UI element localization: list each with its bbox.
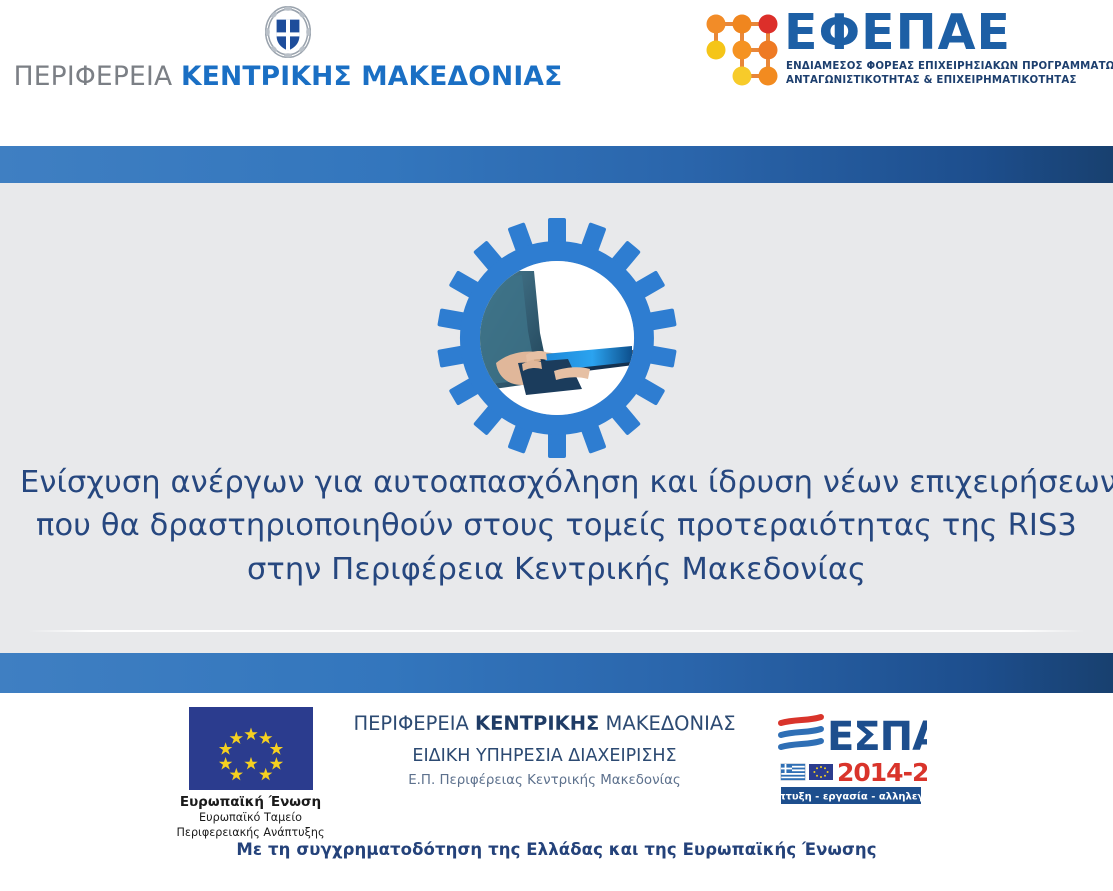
headline-line-1: Ενίσχυση ανέργων για αυτοαπασχόληση και … xyxy=(20,461,1093,504)
region-title-plain: ΠΕΡΙΦΕΡΕΙΑ xyxy=(14,61,173,92)
authority-line-1: ΠΕΡΙΦΕΡΕΙΑ ΚΕΝΤΡΙΚΗΣ ΜΑΚΕΔΟΝΙΑΣ xyxy=(345,711,745,737)
efepae-wordmark: ΕΦΕΠΑΕ xyxy=(784,8,1011,57)
region-title-bold: ΚΕΝΤΡΙΚΗΣ ΜΑΚΕΔΟΝΙΑΣ xyxy=(181,61,562,92)
eu-funding-block: Ευρωπαϊκή Ένωση Ευρωπαϊκό Ταμείο Περιφερ… xyxy=(187,701,315,840)
banner-page: ΠΕΡΙΦΕΡΕΙΑ ΚΕΝΤΡΙΚΗΣ ΜΑΚΕΔΟΝΙΑΣ xyxy=(0,0,1113,891)
eu-caption-sub: Ευρωπαϊκό Ταμείο Περιφερειακής Ανάπτυξης xyxy=(177,810,325,840)
efepae-subtitle-line-2: ΑΝΤΑΓΩΝΙΣΤΙΚΟΤΗΤΑΣ & ΕΠΙΧΕΙΡΗΜΑΤΙΚΟΤΗΤΑΣ xyxy=(786,74,1113,88)
efepae-subtitle-line-1: ΕΝΔΙΑΜΕΣΟΣ ΦΟΡΕΑΣ ΕΠΙΧΕΙΡΗΣΙΑΚΩΝ ΠΡΟΓΡΑΜ… xyxy=(786,60,1113,74)
eu-caption-sub-line-1: Ευρωπαϊκό Ταμείο xyxy=(177,810,325,825)
efepae-network-dots-icon xyxy=(700,10,782,94)
authority-line-1-plain-end: ΜΑΚΕΔΟΝΙΑΣ xyxy=(599,712,735,735)
footer: Ευρωπαϊκή Ένωση Ευρωπαϊκό Ταμείο Περιφερ… xyxy=(0,693,1113,891)
authority-line-2: ΕΙΔΙΚΗ ΥΠΗΡΕΣΙΑ ΔΙΑΧΕΙΡΙΣΗΣ xyxy=(345,745,745,768)
headline-line-3: στην Περιφέρεια Κεντρικής Μακεδονίας xyxy=(20,548,1093,591)
svg-text:ΕΣΠΑ: ΕΣΠΑ xyxy=(827,714,927,760)
efepae-subtitle: ΕΝΔΙΑΜΕΣΟΣ ΦΟΡΕΑΣ ΕΠΙΧΕΙΡΗΣΙΑΚΩΝ ΠΡΟΓΡΑΜ… xyxy=(786,60,1113,88)
panel-divider xyxy=(28,630,1085,632)
authority-line-1-bold: ΚΕΝΤΡΙΚΗΣ xyxy=(475,712,599,735)
authority-line-1-plain-start: ΠΕΡΙΦΕΡΕΙΑ xyxy=(353,712,475,735)
region-of-central-macedonia-logo: ΠΕΡΙΦΕΡΕΙΑ ΚΕΝΤΡΙΚΗΣ ΜΑΚΕΔΟΝΙΑΣ xyxy=(48,6,528,106)
managing-authority-block: ΠΕΡΙΦΕΡΕΙΑ ΚΕΝΤΡΙΚΗΣ ΜΑΚΕΔΟΝΙΑΣ ΕΙΔΙΚΗ Υ… xyxy=(345,701,745,789)
eu-caption-sub-line-2: Περιφερειακής Ανάπτυξης xyxy=(177,825,325,840)
bottom-blue-bar xyxy=(0,653,1113,693)
authority-line-3: Ε.Π. Περιφέρειας Κεντρικής Μακεδονίας xyxy=(345,772,745,789)
page-title: Ενίσχυση ανέργων για αυτοαπασχόληση και … xyxy=(0,461,1113,591)
european-union-flag-icon xyxy=(189,707,313,790)
efepae-logo: ΕΦΕΠΑΕ ΕΝΔΙΑΜΕΣΟΣ ΦΟΡΕΑΣ ΕΠΙΧΕΙΡΗΣΙΑΚΩΝ … xyxy=(700,8,1075,98)
cofunding-statement: Με τη συγχρηματοδότηση της Ελλάδας και τ… xyxy=(0,840,1113,859)
region-title: ΠΕΡΙΦΕΡΕΙΑ ΚΕΝΤΡΙΚΗΣ ΜΑΚΕΔΟΝΙΑΣ xyxy=(14,64,563,91)
main-panel: Ενίσχυση ανέργων για αυτοαπασχόληση και … xyxy=(0,183,1113,653)
svg-text:ανάπτυξη - εργασία - αλληλεγγύ: ανάπτυξη - εργασία - αλληλεγγύη xyxy=(775,791,927,803)
headline-line-2: που θα δραστηριοποιηθούν στους τομείς πρ… xyxy=(20,504,1093,547)
top-blue-bar xyxy=(0,146,1113,183)
top-header: ΠΕΡΙΦΕΡΕΙΑ ΚΕΝΤΡΙΚΗΣ ΜΑΚΕΔΟΝΙΑΣ xyxy=(0,0,1113,145)
greek-coat-of-arms-icon xyxy=(265,6,311,58)
espa-logo-icon: ΕΣΠΑ xyxy=(775,701,927,809)
gear-with-tablet-photo-icon xyxy=(422,213,692,463)
eu-caption-main: Ευρωπαϊκή Ένωση xyxy=(180,794,321,810)
footer-logo-row: Ευρωπαϊκή Ένωση Ευρωπαϊκό Ταμείο Περιφερ… xyxy=(0,701,1113,831)
svg-text:2014-2020: 2014-2020 xyxy=(837,758,927,787)
